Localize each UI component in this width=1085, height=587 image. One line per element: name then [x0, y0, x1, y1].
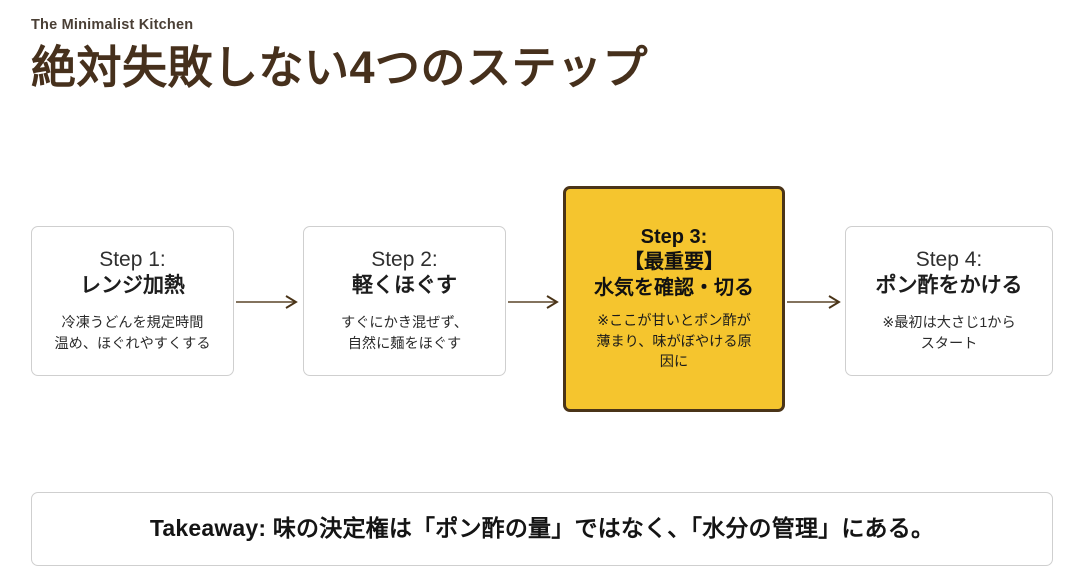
step-1-name: レンジ加熱 [80, 273, 185, 299]
arrow-right-icon-3 [787, 294, 844, 310]
step-4-name: ポン酢をかける [876, 273, 1023, 299]
brand-eyebrow: The Minimalist Kitchen [31, 17, 1051, 34]
step-card-1[interactable]: Step 1: レンジ加熱 冷凍うどんを規定時間 温め、ほぐれやすくする [31, 226, 234, 376]
step-4-label: Step 4: [916, 247, 983, 273]
step-2-label: Step 2: [371, 247, 438, 273]
arrow-right-icon-1 [236, 294, 302, 310]
step-card-3-highlighted[interactable]: Step 3: 【最重要】 水気を確認・切る ※ここが甘いとポン酢が 薄まり、味… [563, 186, 785, 412]
step-3-description: ※ここが甘いとポン酢が 薄まり、味がぼやける原 因に [596, 311, 752, 373]
step-flow-diagram: Step 1: レンジ加熱 冷凍うどんを規定時間 温め、ほぐれやすくする Ste… [0, 186, 1085, 412]
step-2-description: すぐにかき混ぜず、 自然に麺をほぐす [341, 313, 468, 356]
step-4-description: ※最初は大さじ1から スタート [882, 313, 1015, 356]
page-header: The Minimalist Kitchen 絶対失敗しない4つのステップ [31, 17, 1051, 94]
step-1-label: Step 1: [99, 247, 166, 273]
step-2-name: 軽くほぐす [352, 273, 457, 299]
arrow-right-icon-2 [508, 294, 562, 310]
page-title: 絶対失敗しない4つのステップ [31, 43, 1051, 93]
takeaway-text: Takeaway: 味の決定権は「ポン酢の量」ではなく、「水分の管理」にある。 [150, 514, 934, 544]
step-3-name: 【最重要】 水気を確認・切る [594, 250, 754, 300]
step-3-label: Step 3: [641, 225, 708, 249]
takeaway-banner: Takeaway: 味の決定権は「ポン酢の量」ではなく、「水分の管理」にある。 [31, 492, 1053, 566]
step-1-description: 冷凍うどんを規定時間 温め、ほぐれやすくする [54, 313, 210, 356]
step-card-4[interactable]: Step 4: ポン酢をかける ※最初は大さじ1から スタート [845, 226, 1053, 376]
step-card-2[interactable]: Step 2: 軽くほぐす すぐにかき混ぜず、 自然に麺をほぐす [303, 226, 506, 376]
